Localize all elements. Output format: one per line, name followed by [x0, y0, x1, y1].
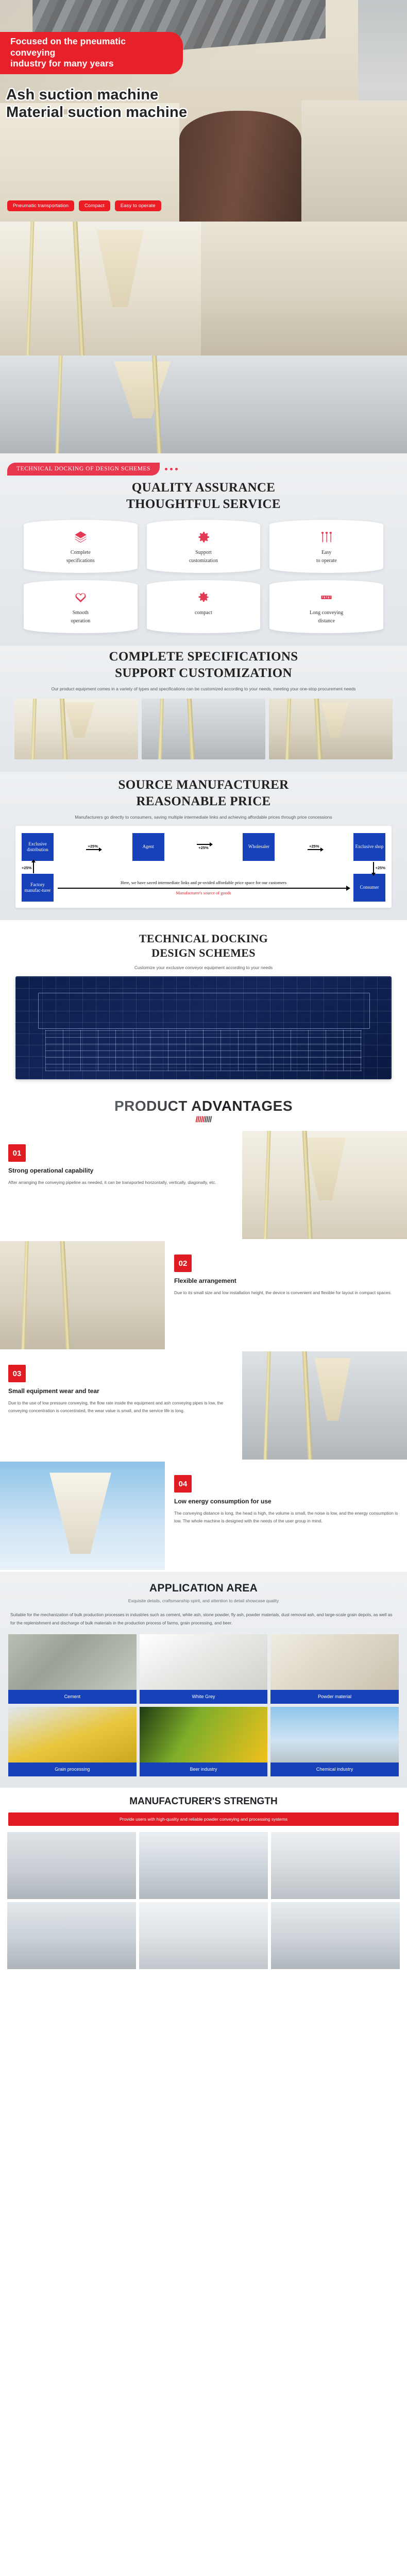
application-label-chemical-industry: Chemical industry	[270, 1762, 399, 1776]
feature-label-3a: Smooth	[73, 610, 89, 616]
feature-label-3b: operation	[71, 618, 90, 624]
decorative-dots-icon	[165, 468, 178, 470]
arrow-up-icon	[33, 862, 34, 873]
application-cell-grain-processing[interactable]: Grain processing	[8, 1707, 137, 1776]
specifications-section: COMPLETE SPECIFICATIONS SUPPORT CUSTOMIZ…	[0, 646, 407, 772]
photo-factory-outdoor	[201, 222, 407, 355]
price-note: Manufacturers go directly to consumers, …	[7, 814, 400, 821]
product-advantages-section: PRODUCT ADVANTAGES ///////// 01 Strong o…	[0, 1090, 407, 1570]
application-label-white-grey: White Grey	[140, 1690, 268, 1704]
hero-banner-line-2: industry for many years	[10, 58, 165, 70]
manufacturer-strength-section: MANUFACTURER'S STRENGTH Provide users wi…	[0, 1788, 407, 1979]
advantage-photo-01	[242, 1131, 407, 1239]
distribution-flow-diagram: Exclusive distribution +25% Agent +25% W…	[15, 826, 392, 908]
feature-capsule-compact[interactable]: compact	[147, 580, 261, 633]
feature-label-1a: Support	[195, 550, 212, 555]
flow-top-row: Exclusive distribution +25% Agent +25% W…	[22, 833, 385, 861]
cone-shape	[96, 230, 144, 308]
strength-photo-1	[7, 1832, 136, 1899]
strength-photo-4	[7, 1902, 136, 1969]
application-cell-white-grey[interactable]: White Grey	[140, 1634, 268, 1704]
arrow-long-right-icon	[58, 888, 349, 889]
flow-box-agent: Agent	[132, 833, 164, 861]
advantage-photo-04	[0, 1462, 165, 1570]
application-photo-chemical-industry	[270, 1707, 399, 1762]
advantage-item-01: 01 Strong operational capability After a…	[0, 1131, 407, 1239]
flow-right-vertical: +25%	[373, 862, 385, 873]
docking-heading-line-1: TECHNICAL DOCKING	[139, 932, 268, 945]
flow-right-percent: +25%	[376, 866, 385, 870]
application-title: APPLICATION AREA	[0, 1582, 407, 1595]
source-manufacturer-section: SOURCE MANUFACTURER REASONABLE PRICE Man…	[0, 772, 407, 920]
quality-feature-grid: Complete specifications Support customiz…	[7, 513, 400, 635]
hero-tag-1[interactable]: Compact	[79, 200, 110, 211]
hero-tag-0[interactable]: Pneumatic transportation	[7, 200, 74, 211]
application-cell-beer-industry[interactable]: Beer industry	[140, 1707, 268, 1776]
feature-label-0b: specifications	[66, 558, 95, 564]
strength-photo-5	[139, 1902, 268, 1969]
specs-photo-3	[269, 699, 393, 759]
application-label-beer-industry: Beer industry	[140, 1762, 268, 1776]
photo-silo-indoor	[0, 222, 201, 355]
quality-chip-row: TECHNICAL DOCKING OF DESIGN SCHEMES	[7, 463, 400, 476]
flow-left-percent: +25%	[22, 866, 31, 870]
arrow-right-icon	[86, 849, 99, 850]
advantage-item-02: 02 Flexible arrangement Due to its small…	[0, 1241, 407, 1349]
flow-arrow-3: +25%	[275, 844, 353, 850]
flow-percent-0: +25%	[54, 844, 132, 849]
advantage-title-04: Low energy consumption for use	[174, 1498, 399, 1505]
price-heading-line-1: SOURCE MANUFACTURER	[118, 778, 289, 792]
advantage-text-04: The conveying distance is long, the head…	[174, 1510, 399, 1525]
feature-capsule-support-customization[interactable]: Support customization	[147, 520, 261, 573]
flow-box-consumer: Consumer	[353, 874, 385, 902]
application-photo-cement	[8, 1634, 137, 1690]
hero-title: Ash suction machine Material suction mac…	[6, 87, 187, 122]
feature-label-2b: to operate	[316, 558, 337, 564]
strength-photo-6	[271, 1902, 400, 1969]
hero-red-banner: Focused on the pneumatic conveying indus…	[0, 32, 183, 74]
application-photo-beer-industry	[140, 1707, 268, 1762]
cone-shape-2	[114, 361, 171, 418]
application-grid: Cement White Grey Powder material Grain …	[0, 1634, 407, 1785]
ruler-icon	[273, 589, 380, 605]
feature-capsule-smooth-operation[interactable]: Smooth operation	[24, 580, 138, 633]
application-label-powder-material: Powder material	[270, 1690, 399, 1704]
advantage-number-01: 01	[8, 1144, 26, 1162]
heart-icon	[27, 589, 134, 605]
feature-capsule-long-conveying-distance[interactable]: Long conveying distance	[269, 580, 383, 633]
technical-docking-section: TECHNICAL DOCKING DESIGN SCHEMES Customi…	[0, 920, 407, 1090]
advantage-item-04: 04 Low energy consumption for use The co…	[0, 1462, 407, 1570]
hero-title-line-1: Ash suction machine	[6, 87, 187, 104]
quality-heading-line-1: QUALITY ASSURANCE	[132, 481, 276, 495]
hero-tag-list: Pneumatic transportation Compact Easy to…	[7, 200, 161, 211]
advantage-title-02: Flexible arrangement	[174, 1277, 399, 1284]
slashes-red: /////	[195, 1115, 204, 1124]
hero-wall-right	[301, 100, 407, 222]
application-description: Suitable for the mechanization of bulk p…	[0, 1605, 407, 1634]
flow-mid-row: +25% +25%	[22, 862, 385, 873]
price-heading: SOURCE MANUFACTURER REASONABLE PRICE	[7, 777, 400, 810]
quality-assurance-section: TECHNICAL DOCKING OF DESIGN SCHEMES QUAL…	[0, 453, 407, 646]
arrow-right-icon-3	[308, 849, 321, 850]
quality-chip-label: TECHNICAL DOCKING OF DESIGN SCHEMES	[7, 463, 160, 476]
feature-label-0a: Complete	[71, 550, 91, 555]
flow-bottom-row: Factory manufac-turer Here, we have save…	[22, 874, 385, 902]
application-label-cement: Cement	[8, 1690, 137, 1704]
strength-banner: Provide users with high-quality and reli…	[8, 1812, 399, 1826]
flow-percent-1: +25%	[164, 845, 243, 850]
application-label-grain-processing: Grain processing	[8, 1762, 137, 1776]
feature-label-1b: customization	[189, 558, 218, 564]
arrow-down-icon	[373, 862, 374, 873]
hero-banner-line-1: Focused on the pneumatic conveying	[10, 36, 165, 58]
hero-tag-2[interactable]: Easy to operate	[115, 200, 161, 211]
application-cell-cement[interactable]: Cement	[8, 1634, 137, 1704]
feature-capsule-easy-to-operate[interactable]: Easy to operate	[269, 520, 383, 573]
strength-title: MANUFACTURER'S STRENGTH	[0, 1788, 407, 1807]
strength-photo-2	[139, 1832, 268, 1899]
sliders-icon	[273, 529, 380, 545]
flow-box-exclusive-distribution: Exclusive distribution	[22, 833, 54, 861]
advantage-title-03: Small equipment wear and tear	[8, 1387, 234, 1395]
docking-heading: TECHNICAL DOCKING DESIGN SCHEMES	[7, 931, 400, 960]
photo-equipment-wide	[0, 355, 407, 453]
specs-heading: COMPLETE SPECIFICATIONS SUPPORT CUSTOMIZ…	[7, 649, 400, 682]
hero-machine-photo	[179, 111, 301, 222]
advantage-number-03: 03	[8, 1365, 26, 1382]
gear-icon	[150, 529, 258, 545]
layers-icon	[27, 529, 134, 545]
specs-photo-1	[14, 699, 138, 759]
specs-photo-2	[142, 699, 265, 759]
strength-photo-3	[271, 1832, 400, 1899]
specs-note: Our product equipment comes in a variety…	[7, 685, 400, 692]
feature-label-4a: compact	[195, 610, 212, 616]
hero-section: Focused on the pneumatic conveying indus…	[0, 0, 407, 222]
cog-icon	[150, 589, 258, 605]
flow-bottom-text: Here, we have saved intermediate links a…	[58, 880, 349, 886]
specs-heading-line-2: SUPPORT CUSTOMIZATION	[115, 666, 292, 680]
application-photo-white-grey	[140, 1634, 268, 1690]
strength-photo-grid	[0, 1832, 407, 1978]
application-photo-powder-material	[270, 1634, 399, 1690]
product-landing-page: Focused on the pneumatic conveying indus…	[0, 0, 407, 1978]
application-photo-grain-processing	[8, 1707, 137, 1762]
advantages-slash-decoration: /////////	[0, 1115, 407, 1125]
slashes-dark: ////	[205, 1115, 212, 1124]
application-area-section: APPLICATION AREA Exquisite details, craf…	[0, 1572, 407, 1787]
application-subtitle: Exquisite details, craftsmanship spirit,…	[0, 1598, 407, 1605]
flow-left-vertical: +25%	[22, 862, 34, 873]
advantage-text-03: Due to the use of low pressure conveying…	[8, 1399, 234, 1415]
advantage-text-02: Due to its small size and low installati…	[174, 1289, 399, 1297]
hero-title-line-2: Material suction machine	[6, 104, 187, 122]
flow-bottom-highlight: Manufacturer's source of goods	[58, 890, 349, 895]
feature-label-5b: distance	[318, 618, 335, 624]
flow-box-exclusive-shop: Exclusive shop	[353, 833, 385, 861]
advantage-photo-02	[0, 1241, 165, 1349]
feature-label-5a: Long conveying	[310, 610, 343, 616]
feature-capsule-complete-specifications[interactable]: Complete specifications	[24, 520, 138, 573]
flow-arrow-1: +25%	[54, 844, 132, 850]
flow-arrow-2: +25%	[164, 844, 243, 850]
feature-label-2a: Easy	[321, 550, 331, 555]
price-heading-line-2: REASONABLE PRICE	[136, 794, 270, 808]
specs-image-row	[7, 692, 400, 761]
advantage-number-02: 02	[174, 1255, 192, 1272]
flow-percent-2: +25%	[275, 844, 353, 849]
advantages-title: PRODUCT ADVANTAGES	[0, 1090, 407, 1114]
application-cell-chemical-industry[interactable]: Chemical industry	[270, 1707, 399, 1776]
flow-center-text: Here, we have saved intermediate links a…	[54, 880, 353, 895]
advantage-text-01: After arranging the conveying pipeline a…	[8, 1179, 234, 1187]
advantage-photo-03	[242, 1351, 407, 1460]
quality-heading: QUALITY ASSURANCE THOUGHTFUL SERVICE	[7, 480, 400, 513]
flow-box-wholesaler: Wholesaler	[243, 833, 275, 861]
hero-photo-strip	[0, 222, 407, 453]
specs-heading-line-1: COMPLETE SPECIFICATIONS	[109, 650, 298, 664]
advantage-title-01: Strong operational capability	[8, 1167, 234, 1174]
flow-box-factory-manufacturer: Factory manufac-turer	[22, 874, 54, 902]
advantage-item-03: 03 Small equipment wear and tear Due to …	[0, 1351, 407, 1460]
advantage-number-04: 04	[174, 1475, 192, 1493]
blueprint-drawing-image	[15, 976, 392, 1079]
application-cell-powder-material[interactable]: Powder material	[270, 1634, 399, 1704]
quality-heading-line-2: THOUGHTFUL SERVICE	[126, 497, 281, 511]
docking-note: Customize your exclusive conveyor equipm…	[7, 964, 400, 971]
docking-heading-line-2: DESIGN SCHEMES	[151, 946, 256, 959]
arrow-right-icon-2	[197, 844, 210, 845]
